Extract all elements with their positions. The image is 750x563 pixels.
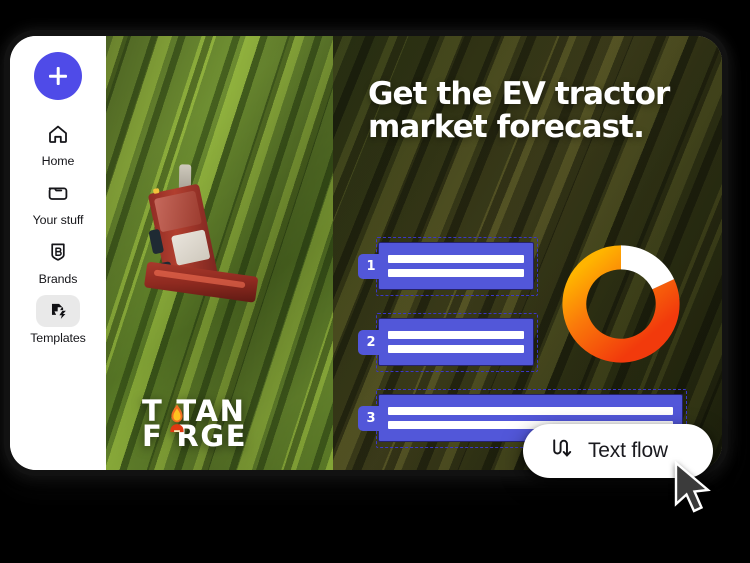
canvas-page-photo[interactable]: TITAN FORGE <box>106 36 333 470</box>
placeholder-line <box>388 345 524 353</box>
screenshot-stage: Home Your stuff Brands <box>0 0 750 563</box>
row-number-badge: 2 <box>358 330 384 355</box>
left-sidebar: Home Your stuff Brands <box>10 36 106 470</box>
text-placeholder-block[interactable] <box>378 242 534 290</box>
brand-logo-line-2: FORGE <box>142 424 247 448</box>
donut-chart[interactable] <box>558 241 684 367</box>
placeholder-line <box>388 407 673 415</box>
sidebar-item-home[interactable]: Home <box>15 118 101 168</box>
text-placeholder-block[interactable] <box>378 318 534 366</box>
row-number-badge: 3 <box>358 406 384 431</box>
home-icon <box>36 118 80 150</box>
sidebar-item-your-stuff[interactable]: Your stuff <box>15 177 101 227</box>
sidebar-item-label: Brands <box>39 272 78 286</box>
canvas-page-forecast[interactable]: Get the EV tractor market forecast. 1 <box>333 36 722 470</box>
create-new-button[interactable] <box>34 52 82 100</box>
row-number-badge: 1 <box>358 254 384 279</box>
sidebar-item-label: Home <box>42 154 75 168</box>
placeholder-line <box>388 255 524 263</box>
text-placeholder-row[interactable]: 2 <box>358 318 534 366</box>
template-bolt-icon <box>36 295 80 327</box>
sidebar-item-brands[interactable]: Brands <box>15 236 101 286</box>
app-window: Home Your stuff Brands <box>10 36 722 470</box>
brand-logo: TITAN FORGE <box>142 399 247 448</box>
sidebar-item-templates[interactable]: Templates <box>15 295 101 345</box>
text-flow-label: Text flow <box>588 439 668 463</box>
text-flow-icon <box>547 435 574 467</box>
text-flow-button[interactable]: Text flow <box>523 424 713 478</box>
headline-text[interactable]: Get the EV tractor market forecast. <box>368 78 698 144</box>
folder-icon <box>36 177 80 209</box>
text-placeholder-row[interactable]: 1 <box>358 242 534 290</box>
placeholder-line <box>388 331 524 339</box>
sidebar-item-label: Templates <box>30 331 86 345</box>
sidebar-item-label: Your stuff <box>33 213 84 227</box>
flame-slot: O <box>163 424 176 448</box>
brand-shield-icon <box>36 236 80 268</box>
design-canvas[interactable]: TITAN FORGE Get the EV tractor market fo… <box>106 36 722 470</box>
plus-icon <box>48 66 68 86</box>
placeholder-line <box>388 269 524 277</box>
